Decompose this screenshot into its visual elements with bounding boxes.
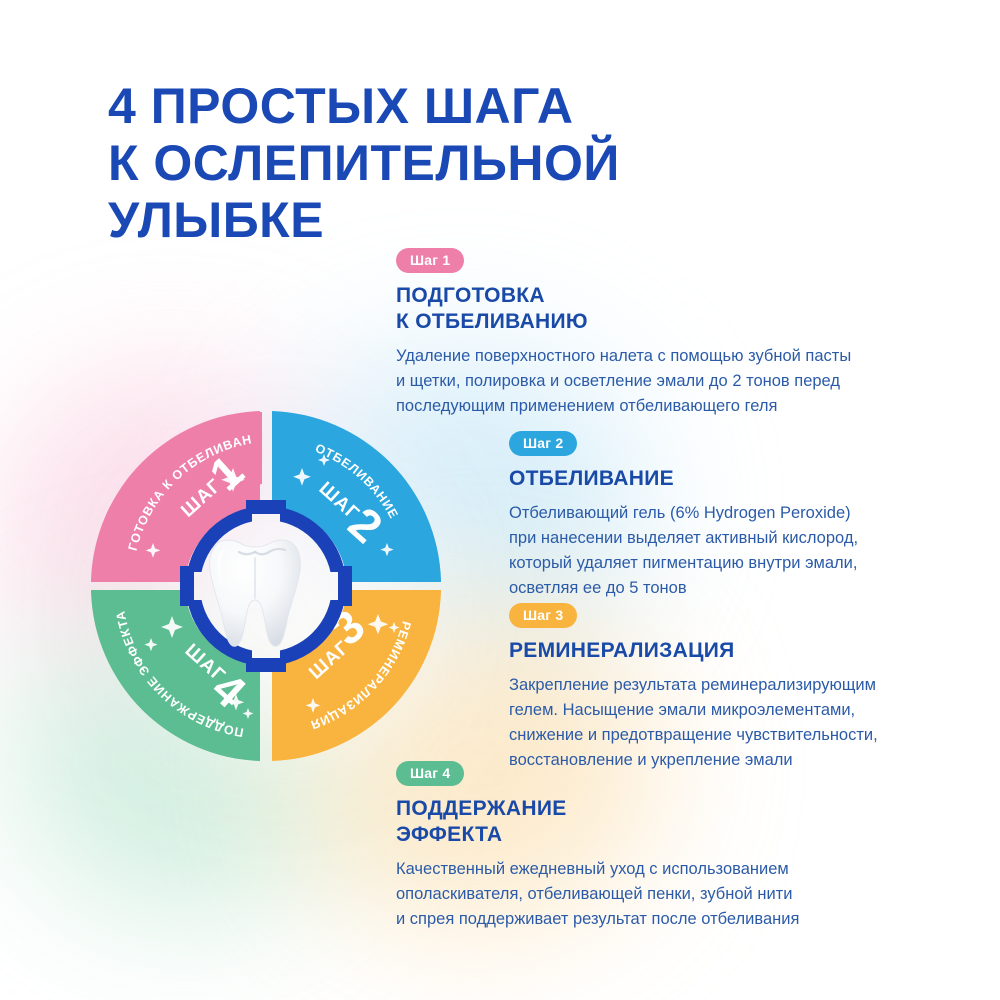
step-badge-4[interactable]: Шаг 4 — [396, 761, 464, 786]
step-block-2: Шаг 2 ОТБЕЛИВАНИЕ Отбеливающий гель (6% … — [509, 431, 929, 601]
step-block-4: Шаг 4 ПОДДЕРЖАНИЕ ЭФФЕКТА Качественный е… — [396, 761, 896, 932]
step-title-2: ОТБЕЛИВАНИЕ — [509, 466, 929, 492]
step-title-3: РЕМИНЕРАЛИЗАЦИЯ — [509, 638, 929, 664]
step-badge-2[interactable]: Шаг 2 — [509, 431, 577, 456]
step-block-1: Шаг 1 ПОДГОТОВКА К ОТБЕЛИВАНИЮ Удаление … — [396, 248, 926, 419]
step-badge-3[interactable]: Шаг 3 — [509, 603, 577, 628]
step-badge-1[interactable]: Шаг 1 — [396, 248, 464, 273]
step-body-4: Качественный ежедневный уход с использов… — [396, 857, 896, 932]
step-title-4: ПОДДЕРЖАНИЕ ЭФФЕКТА — [396, 796, 896, 848]
step-body-3: Закрепление результата реминерализирующи… — [509, 673, 929, 773]
steps-wheel-diagram: ПОДГОТОВКА К ОТБЕЛИВАНИЮ ОТБЕЛИВАНИЕ РЕМ… — [88, 408, 444, 764]
step-title-1: ПОДГОТОВКА К ОТБЕЛИВАНИЮ — [396, 283, 926, 335]
page-title: 4 ПРОСТЫХ ШАГА К ОСЛЕПИТЕЛЬНОЙ УЛЫБКЕ — [108, 78, 620, 249]
step-body-2: Отбеливающий гель (6% Hydrogen Peroxide)… — [509, 501, 929, 601]
step-block-3: Шаг 3 РЕМИНЕРАЛИЗАЦИЯ Закрепление резуль… — [509, 603, 929, 773]
step-body-1: Удаление поверхностного налета с помощью… — [396, 344, 926, 419]
